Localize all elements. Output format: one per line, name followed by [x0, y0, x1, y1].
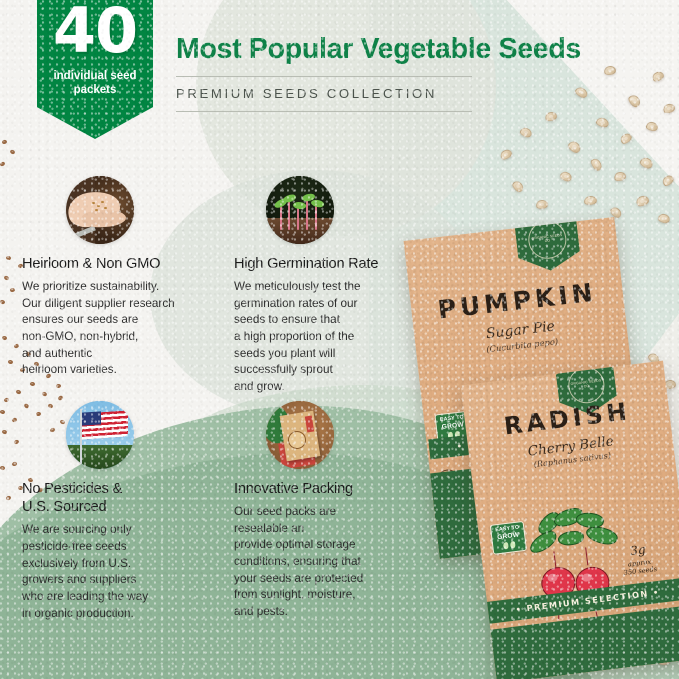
feature-body: We are sourcing only pesticide-free seed… — [22, 522, 212, 622]
header: Most Popular Vegetable Seeds PREMIUM SEE… — [176, 34, 581, 112]
usa-flag-icon — [66, 401, 134, 469]
seed-packet-icon — [266, 401, 334, 469]
feature-title: Heirloom & Non GMO — [22, 255, 212, 273]
divider-top — [176, 76, 472, 77]
hand-holding-seeds-icon — [66, 176, 134, 244]
feature-no-pesticides-us-sourced: No Pesticides & U.S. Sourced We are sour… — [22, 401, 212, 622]
page-subtitle: PREMIUM SEEDS COLLECTION — [176, 86, 581, 101]
badge-subtitle: individual seed packets — [37, 69, 153, 98]
feature-title: No Pesticides & U.S. Sourced — [22, 480, 212, 516]
product-infographic: 40 individual seed packets Most Popular … — [0, 0, 679, 679]
feature-title: High Germination Rate — [234, 255, 424, 273]
feature-body: We prioritize sustainability. Our dilige… — [22, 279, 212, 379]
badge-count: 40 — [53, 0, 137, 62]
feature-body: We meticulously test the germination rat… — [234, 279, 424, 395]
seedling-sprouts-icon — [266, 176, 334, 244]
feature-title: Innovative Packing — [234, 480, 424, 498]
page-title: Most Popular Vegetable Seeds — [176, 34, 581, 65]
feature-heirloom-non-gmo: Heirloom & Non GMO We prioritize sustain… — [22, 176, 212, 379]
feature-innovative-packing: Innovative Packing Our seed packs are re… — [234, 401, 424, 621]
divider-bottom — [176, 111, 472, 112]
feature-high-germination-rate: High Germination Rate We meticulously te… — [234, 176, 424, 396]
feature-body: Our seed packs are resealable an provide… — [234, 504, 424, 620]
